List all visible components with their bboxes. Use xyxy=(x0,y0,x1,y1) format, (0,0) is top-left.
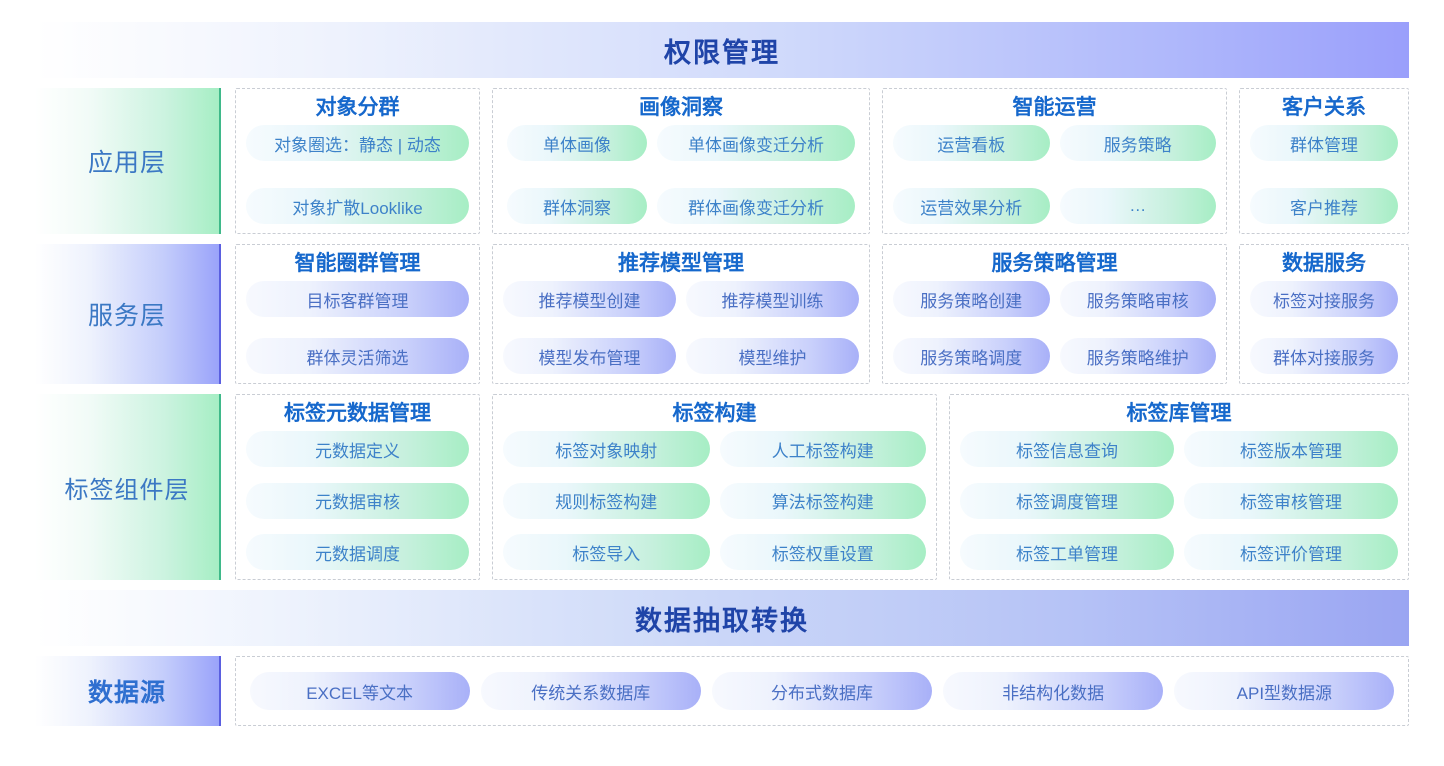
pill-item[interactable]: 服务策略创建 xyxy=(893,281,1050,317)
group-pill-list: 对象圈选：静态 | 动态 对象扩散Looklike xyxy=(246,125,469,224)
pill-item[interactable]: 规则标签构建 xyxy=(503,483,710,519)
pill-item[interactable]: 标签版本管理 xyxy=(1184,431,1398,467)
data-source-item[interactable]: 分布式数据库 xyxy=(712,672,932,710)
pill-item[interactable]: 服务策略维护 xyxy=(1060,338,1217,374)
pill-item[interactable]: 运营看板 xyxy=(893,125,1050,161)
layer-groups-application: 对象分群 对象圈选：静态 | 动态 对象扩散Looklike 画像洞察 单体画像… xyxy=(235,88,1409,234)
layer-label-tag-component: 标签组件层 xyxy=(35,394,221,580)
group-title: 标签元数据管理 xyxy=(284,402,431,425)
group-title: 智能运营 xyxy=(1013,96,1097,119)
group-recommend-model-management: 推荐模型管理 推荐模型创建 推荐模型训练 模型发布管理 模型维护 xyxy=(492,244,870,384)
architecture-diagram: 权限管理 应用层 对象分群 对象圈选：静态 | 动态 对象扩散Looklike … xyxy=(35,22,1409,744)
layer-row-service: 服务层 智能圈群管理 目标客群管理 群体灵活筛选 推荐模型管理 推荐模型创建 推… xyxy=(35,244,1409,384)
group-pill-list: 标签对接服务 群体对接服务 xyxy=(1250,281,1398,374)
layer-label-application: 应用层 xyxy=(35,88,221,234)
layer-label-text: 服务层 xyxy=(88,296,166,332)
data-source-item[interactable]: API型数据源 xyxy=(1174,672,1394,710)
group-title: 标签库管理 xyxy=(1127,402,1232,425)
pill-item[interactable]: 标签信息查询 xyxy=(960,431,1174,467)
pill-item[interactable]: 目标客群管理 xyxy=(246,281,469,317)
group-service-policy-management: 服务策略管理 服务策略创建 服务策略审核 服务策略调度 服务策略维护 xyxy=(882,244,1227,384)
pill-item[interactable]: 群体洞察 xyxy=(507,188,647,224)
group-pill-list: 元数据定义 元数据审核 元数据调度 xyxy=(246,431,469,570)
group-pill-list: 运营看板 服务策略 运营效果分析 … xyxy=(893,125,1216,224)
group-tag-metadata-management: 标签元数据管理 元数据定义 元数据审核 元数据调度 xyxy=(235,394,480,580)
pill-item[interactable]: 算法标签构建 xyxy=(720,483,927,519)
spacer xyxy=(35,646,1409,656)
group-tag-construction: 标签构建 标签对象映射 人工标签构建 规则标签构建 算法标签构建 标签导入 标签… xyxy=(492,394,937,580)
pill-item[interactable]: … xyxy=(1060,188,1217,224)
layer-label-text: 数据源 xyxy=(88,673,166,709)
pill-item[interactable]: 模型维护 xyxy=(686,338,859,374)
group-title: 客户关系 xyxy=(1282,96,1366,119)
data-extraction-banner: 数据抽取转换 xyxy=(35,590,1409,646)
permission-management-banner: 权限管理 xyxy=(35,22,1409,78)
data-source-item[interactable]: 传统关系数据库 xyxy=(481,672,701,710)
group-title: 数据服务 xyxy=(1282,252,1366,275)
layer-label-text: 应用层 xyxy=(88,143,166,179)
pill-item[interactable]: 对象圈选：静态 | 动态 xyxy=(246,125,469,161)
pill-item[interactable]: 推荐模型训练 xyxy=(686,281,859,317)
pill-item[interactable]: 元数据审核 xyxy=(246,483,469,519)
group-pill-list: 单体画像 单体画像变迁分析 群体洞察 群体画像变迁分析 xyxy=(503,125,859,224)
pill-item[interactable]: 群体灵活筛选 xyxy=(246,338,469,374)
banner-title: 权限管理 xyxy=(664,31,780,70)
pill-item[interactable]: 推荐模型创建 xyxy=(503,281,676,317)
banner-title: 数据抽取转换 xyxy=(635,599,809,638)
pill-item[interactable]: 标签对接服务 xyxy=(1250,281,1398,317)
group-title: 标签构建 xyxy=(673,402,757,425)
pill-item[interactable]: 标签对象映射 xyxy=(503,431,710,467)
pill-item[interactable]: 标签导入 xyxy=(503,534,710,570)
spacer xyxy=(35,234,1409,244)
pill-item[interactable]: 服务策略调度 xyxy=(893,338,1050,374)
spacer xyxy=(35,580,1409,590)
pill-item[interactable]: 群体画像变迁分析 xyxy=(657,188,855,224)
spacer xyxy=(35,384,1409,394)
group-object-segmentation: 对象分群 对象圈选：静态 | 动态 对象扩散Looklike xyxy=(235,88,480,234)
group-pill-list: 标签信息查询 标签版本管理 标签调度管理 标签审核管理 标签工单管理 标签评价管… xyxy=(960,431,1398,570)
group-title: 对象分群 xyxy=(316,96,400,119)
pill-item[interactable]: 标签调度管理 xyxy=(960,483,1174,519)
group-smart-crowd-management: 智能圈群管理 目标客群管理 群体灵活筛选 xyxy=(235,244,480,384)
pill-item[interactable]: 服务策略 xyxy=(1060,125,1217,161)
pill-item[interactable]: 标签审核管理 xyxy=(1184,483,1398,519)
group-title: 推荐模型管理 xyxy=(618,252,744,275)
pill-item[interactable]: 单体画像变迁分析 xyxy=(657,125,855,161)
pill-item[interactable]: 人工标签构建 xyxy=(720,431,927,467)
layer-label-service: 服务层 xyxy=(35,244,221,384)
pill-item[interactable]: 客户推荐 xyxy=(1250,188,1398,224)
data-source-list: EXCEL等文本 传统关系数据库 分布式数据库 非结构化数据 API型数据源 xyxy=(235,656,1409,726)
data-source-item[interactable]: 非结构化数据 xyxy=(943,672,1163,710)
layer-label-data-source: 数据源 xyxy=(35,656,221,726)
pill-item[interactable]: 元数据调度 xyxy=(246,534,469,570)
group-pill-list: 目标客群管理 群体灵活筛选 xyxy=(246,281,469,374)
group-intelligent-operation: 智能运营 运营看板 服务策略 运营效果分析 … xyxy=(882,88,1227,234)
layer-row-application: 应用层 对象分群 对象圈选：静态 | 动态 对象扩散Looklike 画像洞察 … xyxy=(35,88,1409,234)
group-pill-list: 服务策略创建 服务策略审核 服务策略调度 服务策略维护 xyxy=(893,281,1216,374)
pill-item[interactable]: 元数据定义 xyxy=(246,431,469,467)
pill-item[interactable]: 群体对接服务 xyxy=(1250,338,1398,374)
pill-item[interactable]: 对象扩散Looklike xyxy=(246,188,469,224)
layer-groups-tag-component: 标签元数据管理 元数据定义 元数据审核 元数据调度 标签构建 标签对象映射 人工… xyxy=(235,394,1409,580)
layer-row-data-source: 数据源 EXCEL等文本 传统关系数据库 分布式数据库 非结构化数据 API型数… xyxy=(35,656,1409,726)
pill-item[interactable]: 群体管理 xyxy=(1250,125,1398,161)
pill-item[interactable]: 标签工单管理 xyxy=(960,534,1174,570)
group-pill-list: 推荐模型创建 推荐模型训练 模型发布管理 模型维护 xyxy=(503,281,859,374)
group-pill-list: 标签对象映射 人工标签构建 规则标签构建 算法标签构建 标签导入 标签权重设置 xyxy=(503,431,926,570)
pill-item[interactable]: 单体画像 xyxy=(507,125,647,161)
group-profile-insight: 画像洞察 单体画像 单体画像变迁分析 群体洞察 群体画像变迁分析 xyxy=(492,88,870,234)
pill-item[interactable]: 标签评价管理 xyxy=(1184,534,1398,570)
group-title: 画像洞察 xyxy=(639,96,723,119)
pill-item[interactable]: 服务策略审核 xyxy=(1060,281,1217,317)
pill-item[interactable]: 运营效果分析 xyxy=(893,188,1050,224)
spacer xyxy=(35,78,1409,88)
layer-label-text: 标签组件层 xyxy=(65,470,190,505)
pill-item[interactable]: 模型发布管理 xyxy=(503,338,676,374)
group-title: 服务策略管理 xyxy=(992,252,1118,275)
pill-item[interactable]: 标签权重设置 xyxy=(720,534,927,570)
group-pill-list: 群体管理 客户推荐 xyxy=(1250,125,1398,224)
data-source-item[interactable]: EXCEL等文本 xyxy=(250,672,470,710)
group-title: 智能圈群管理 xyxy=(295,252,421,275)
group-tag-library-management: 标签库管理 标签信息查询 标签版本管理 标签调度管理 标签审核管理 标签工单管理… xyxy=(949,394,1409,580)
layer-groups-service: 智能圈群管理 目标客群管理 群体灵活筛选 推荐模型管理 推荐模型创建 推荐模型训… xyxy=(235,244,1409,384)
layer-row-tag-component: 标签组件层 标签元数据管理 元数据定义 元数据审核 元数据调度 标签构建 标签对… xyxy=(35,394,1409,580)
group-data-service: 数据服务 标签对接服务 群体对接服务 xyxy=(1239,244,1409,384)
group-customer-relation: 客户关系 群体管理 客户推荐 xyxy=(1239,88,1409,234)
